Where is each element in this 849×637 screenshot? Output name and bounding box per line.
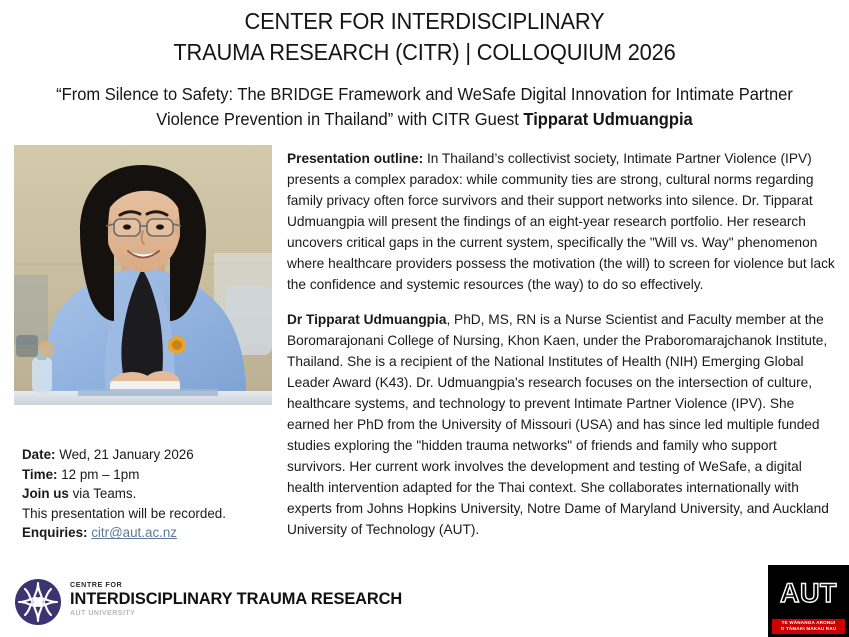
bio-text: , PhD, MS, RN is a Nurse Scientist and F… bbox=[287, 312, 829, 537]
header-title-line-2: TRAUMA RESEARCH (CITR) | COLLOQUIUM 2026 bbox=[30, 37, 820, 68]
portrait-illustration bbox=[14, 145, 272, 405]
event-date-row: Date: Wed, 21 January 2026 bbox=[22, 445, 274, 465]
aut-maori-band: TE WĀNANGA ARONUI O TĀMAKI MAKAU RAU bbox=[772, 619, 845, 634]
citr-logo-text: CENTRE FOR INTERDISCIPLINARY TRAUMA RESE… bbox=[70, 580, 402, 619]
enquiries-row: Enquiries: citr@aut.ac.nz bbox=[22, 523, 274, 543]
time-value: 12 pm – 1pm bbox=[57, 467, 139, 482]
citr-koru-mark-icon bbox=[14, 578, 62, 626]
time-label: Time: bbox=[22, 467, 57, 482]
aut-letters-label: AUT bbox=[768, 578, 849, 608]
speaker-portrait-photo bbox=[14, 145, 272, 405]
presentation-outline-paragraph: Presentation outline: In Thailand’s coll… bbox=[287, 148, 838, 295]
header-title-line-1: CENTER FOR INTERDISCIPLINARY bbox=[30, 6, 820, 37]
outline-label: Presentation outline: bbox=[287, 151, 423, 166]
event-time-row: Time: 12 pm – 1pm bbox=[22, 465, 274, 485]
recording-note: This presentation will be recorded. bbox=[22, 504, 274, 524]
guest-name: Tipparat Udmuangpia bbox=[523, 109, 692, 129]
citr-university-label: AUT UNIVERSITY bbox=[70, 609, 402, 619]
koru-circle-icon bbox=[14, 578, 62, 626]
bio-name: Dr Tipparat Udmuangpia bbox=[287, 312, 446, 327]
aut-logo: AUT TE WĀNANGA ARONUI O TĀMAKI MAKAU RAU bbox=[768, 565, 849, 637]
outline-text: In Thailand’s collectivist society, Inti… bbox=[287, 151, 835, 292]
page-header: CENTER FOR INTERDISCIPLINARY TRAUMA RESE… bbox=[0, 6, 849, 68]
date-value: Wed, 21 January 2026 bbox=[55, 447, 193, 462]
citr-name-label: INTERDISCIPLINARY TRAUMA RESEARCH bbox=[70, 589, 402, 609]
citr-centre-for-label: CENTRE FOR bbox=[70, 580, 402, 589]
presentation-body: Presentation outline: In Thailand’s coll… bbox=[287, 148, 838, 540]
enquiries-email-link[interactable]: citr@aut.ac.nz bbox=[91, 525, 177, 540]
date-label: Date: bbox=[22, 447, 55, 462]
event-details: Date: Wed, 21 January 2026 Time: 12 pm –… bbox=[22, 445, 274, 543]
join-label: Join us bbox=[22, 486, 69, 501]
citr-logo: CENTRE FOR INTERDISCIPLINARY TRAUMA RESE… bbox=[14, 578, 364, 628]
enquiries-label: Enquiries: bbox=[22, 525, 87, 540]
aut-maori-line-2: O TĀMAKI MAKAU RAU bbox=[772, 626, 845, 632]
event-join-row: Join us via Teams. bbox=[22, 484, 274, 504]
join-value: via Teams. bbox=[69, 486, 136, 501]
speaker-bio-paragraph: Dr Tipparat Udmuangpia, PhD, MS, RN is a… bbox=[287, 309, 838, 540]
presentation-subtitle: “From Silence to Safety: The BRIDGE Fram… bbox=[34, 82, 814, 132]
